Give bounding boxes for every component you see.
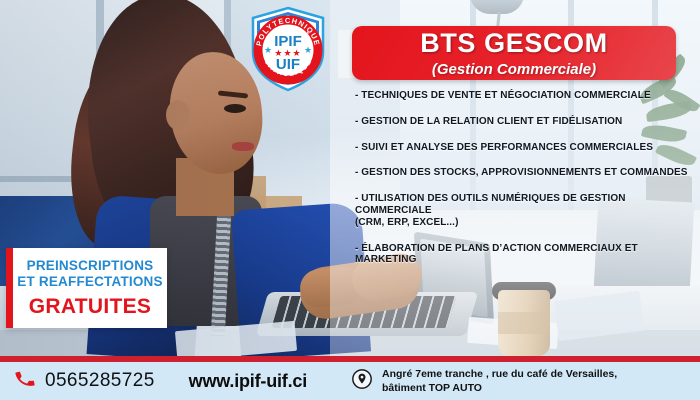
- address-text: Angré 7eme tranche , rue du café de Vers…: [382, 367, 617, 395]
- program-bullet-list: - TECHNIQUES DE VENTE ET NÉGOCIATION COM…: [355, 90, 700, 280]
- promo-line-2: ET REAFFECTATIONS: [17, 274, 162, 290]
- promo-line-1: PREINSCRIPTIONS: [27, 258, 154, 274]
- bts-gescom-promo-banner: POLYTECHNIQUE CATHOLIQUE IPIF ★★★ UIF ★ …: [0, 0, 700, 400]
- logo-star-left: ★: [264, 45, 272, 55]
- title-banner: BTS GESCOM (Gestion Commerciale): [352, 26, 676, 80]
- address-block: Angré 7eme tranche , rue du café de Vers…: [351, 367, 617, 395]
- ipif-uif-logo: POLYTECHNIQUE CATHOLIQUE IPIF ★★★ UIF ★ …: [247, 6, 329, 92]
- logo-star-right: ★: [304, 45, 312, 55]
- page-title: BTS GESCOM: [420, 30, 608, 57]
- location-pin-icon: [351, 368, 373, 395]
- bullet-item: - GESTION DE LA RELATION CLIENT ET FIDÉL…: [355, 116, 700, 128]
- page-subtitle: (Gestion Commerciale): [432, 62, 596, 77]
- phone-icon: [14, 368, 36, 395]
- preinscriptions-promo-box: PREINSCRIPTIONS ET REAFFECTATIONS GRATUI…: [6, 248, 167, 328]
- contact-footer: 0565285725 www.ipif-uif.ci Angré 7eme tr…: [0, 356, 700, 400]
- bullet-item: - SUIVI ET ANALYSE DES PERFORMANCES COMM…: [355, 142, 700, 154]
- phone-number: 0565285725: [45, 370, 155, 392]
- website-link[interactable]: www.ipif-uif.ci: [189, 371, 307, 392]
- bullet-item: - GESTION DES STOCKS, APPROVISIONNEMENTS…: [355, 167, 700, 179]
- bullet-item: - UTILISATION DES OUTILS NUMÉRIQUES DE G…: [355, 193, 700, 228]
- logo-line-uif: UIF: [276, 56, 300, 73]
- promo-line-3: GRATUITES: [29, 295, 151, 318]
- bullet-item: - TECHNIQUES DE VENTE ET NÉGOCIATION COM…: [355, 90, 700, 102]
- phone-contact[interactable]: 0565285725: [14, 368, 155, 395]
- bullet-item: - ÉLABORATION DE PLANS D’ACTION COMMERCI…: [355, 243, 700, 267]
